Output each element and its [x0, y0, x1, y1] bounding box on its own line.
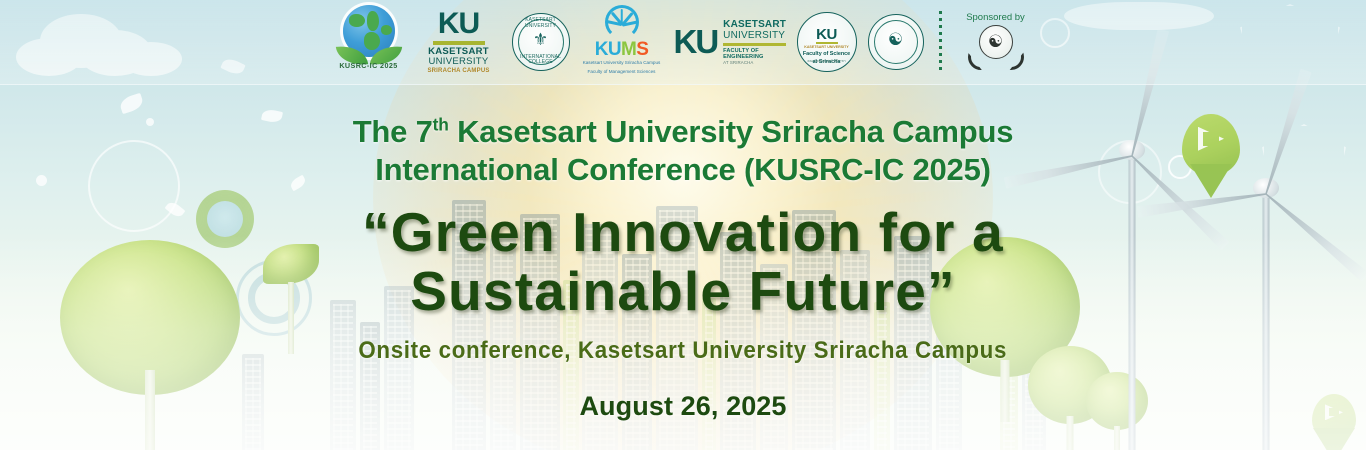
logo-kusrc-ic-globe: KUSRC-IC 2025 — [332, 5, 406, 79]
headline-line-1: “Green Innovation for a — [362, 203, 1004, 262]
title-post: Kasetsart University Sriracha Campus — [449, 114, 1014, 149]
kums-sub-1: Kasetsart University Sriracha Campus — [583, 60, 661, 67]
logo-faculty-of-science: KU KASETSART UNIVERSITY Faculty of Scien… — [797, 12, 857, 72]
logo-thai-government-seal: ☯ — [868, 14, 924, 70]
sci-sub-small: KASETSART UNIVERSITY — [798, 45, 856, 49]
sponsored-by-label: Sponsored by — [966, 12, 1025, 23]
ships-wheel-icon — [601, 9, 643, 39]
ku-line-2: UNIVERSITY — [428, 57, 488, 67]
title-ordinal-suffix: th — [433, 115, 449, 135]
seal-inner-text: INTERNATIONAL COLLEGE — [513, 55, 569, 67]
eng-line-2: UNIVERSITY — [723, 30, 786, 41]
headline-line-2: Sustainable Future” — [362, 262, 1004, 321]
ku-monogram: KU — [438, 10, 479, 39]
conference-title-line-2: International Conference (KUSRC-IC 2025) — [353, 151, 1014, 189]
eng-line-3: FACULTY OF ENGINEERING — [723, 48, 786, 60]
logo-kasetsart-university-sriracha: KU KASETSART UNIVERSITY SRIRACHA CAMPUS — [417, 9, 501, 75]
title-pre: The 7 — [353, 114, 433, 149]
logo-international-college-seal: ⚜ KASETSART UNIVERSITY INTERNATIONAL COL… — [512, 13, 570, 71]
eng-line-1: KASETSART — [723, 19, 786, 30]
logo-kums: KUMS Kasetsart University Sriracha Campu… — [581, 7, 663, 77]
eng-line-4: AT SRIRACHA — [723, 60, 786, 65]
kums-sub-2: Faculty of Management Sciences — [588, 69, 656, 76]
globe-arc-text: KUSRC-IC 2025 — [332, 53, 406, 79]
sci-line-1: Faculty of Science — [798, 51, 856, 58]
eng-divider — [723, 43, 786, 46]
seal-emblem-icon: ⚜ — [533, 30, 548, 50]
conference-subtitle: Onsite conference, Kasetsart University … — [359, 337, 1008, 365]
banner-content: The 7th Kasetsart University Sriracha Ca… — [0, 85, 1366, 450]
conference-banner: KUSRC-IC 2025 KU KASETSART UNIVERSITY SR… — [0, 0, 1366, 450]
conference-title: The 7th Kasetsart University Sriracha Ca… — [353, 113, 1014, 189]
ku-line-3: SRIRACHA CAMPUS — [427, 68, 489, 74]
sci-line-3: คณะวิทยาศาสตร์ ศรีราชา — [798, 59, 856, 64]
ku-divider — [433, 41, 485, 45]
eng-ku-monogram: KU — [674, 27, 718, 57]
sci-ku-monogram: KU — [798, 26, 856, 43]
thai-seal-icon: ☯ — [888, 30, 903, 50]
conference-title-line-1: The 7th Kasetsart University Sriracha Ca… — [353, 113, 1014, 151]
logo-bar: KUSRC-IC 2025 KU KASETSART UNIVERSITY SR… — [0, 0, 1366, 85]
sci-divider — [816, 42, 838, 44]
sponsor-block: Sponsored by ☯ — [957, 3, 1035, 81]
dotted-divider — [939, 11, 942, 73]
kums-wordmark: KUMS — [595, 40, 649, 59]
sponsor-seal-icon: ☯ — [968, 24, 1024, 72]
conference-headline: “Green Innovation for a Sustainable Futu… — [362, 203, 1004, 322]
logo-faculty-of-engineering: KU KASETSART UNIVERSITY FACULTY OF ENGIN… — [674, 13, 786, 71]
conference-date: August 26, 2025 — [579, 391, 786, 422]
seal-outer-text: KASETSART UNIVERSITY — [513, 18, 569, 30]
